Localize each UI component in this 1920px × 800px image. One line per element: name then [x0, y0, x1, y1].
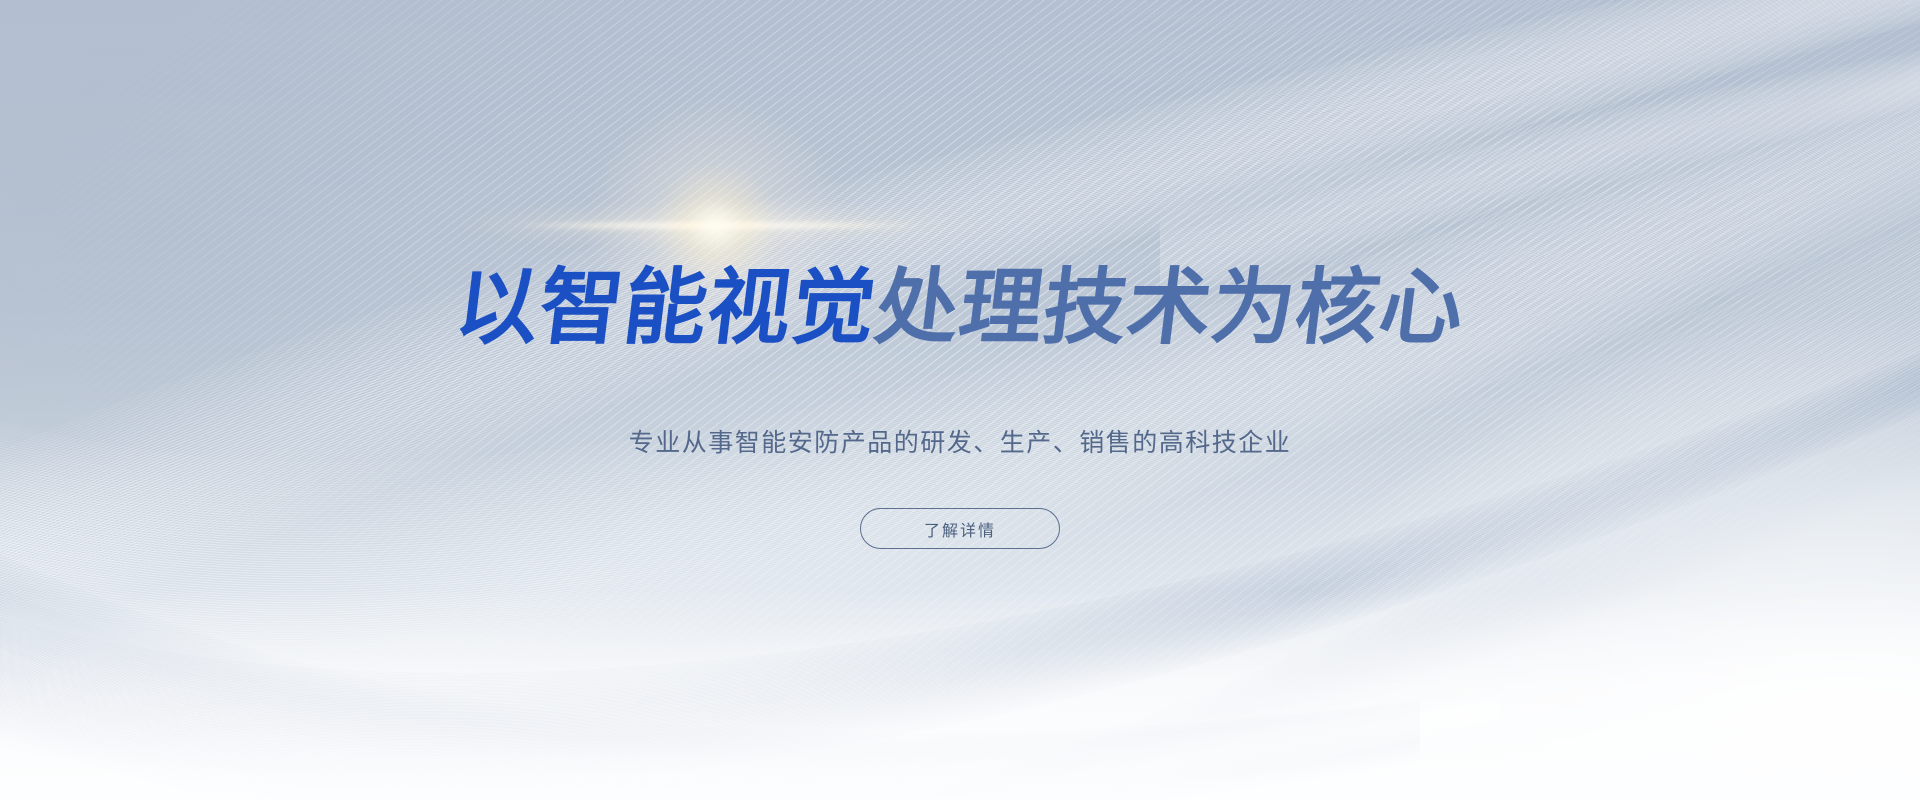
page-title: 以智能视觉处理技术为核心	[0, 266, 1920, 349]
headline-segment-primary: 以智能视觉	[451, 266, 881, 349]
learn-more-button[interactable]: 了解详情	[860, 508, 1060, 549]
headline-segment-secondary: 处理技术为核心	[871, 266, 1469, 349]
cta-container: 了解详情	[0, 508, 1920, 549]
page-subtitle: 专业从事智能安防产品的研发、生产、销售的高科技企业	[0, 425, 1920, 460]
hero-banner: 以智能视觉处理技术为核心 专业从事智能安防产品的研发、生产、销售的高科技企业 了…	[0, 0, 1920, 800]
hero-content: 以智能视觉处理技术为核心 专业从事智能安防产品的研发、生产、销售的高科技企业 了…	[0, 0, 1920, 800]
